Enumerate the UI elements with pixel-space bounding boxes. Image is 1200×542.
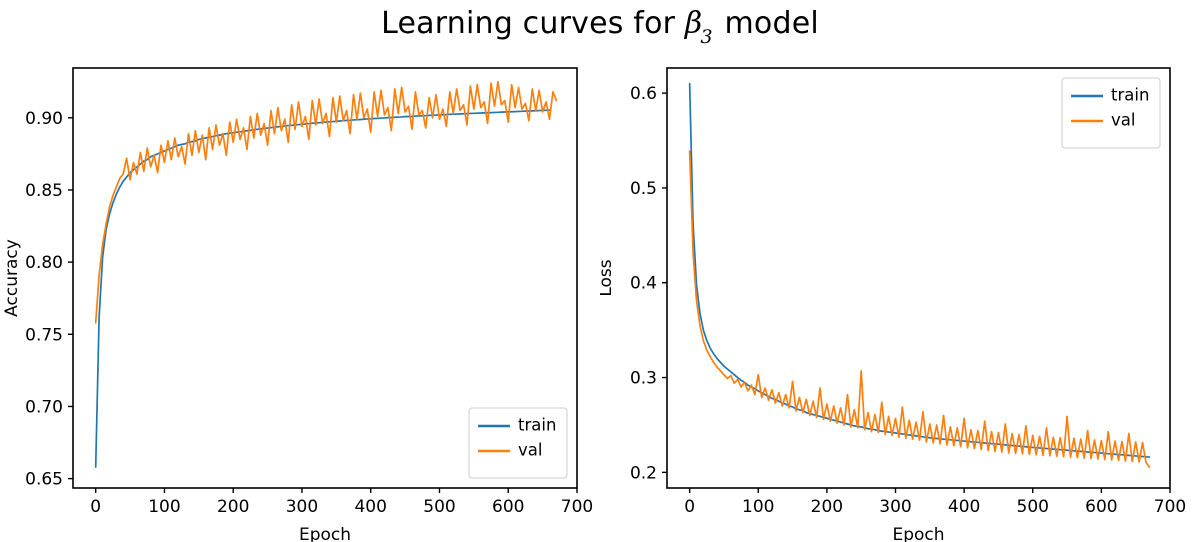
accuracy-plot-axes: 01002003004005006007000.650.700.750.800.… [0,0,600,542]
accuracy-xtick-label: 100 [148,497,180,517]
loss-xaxis-label: Epoch [892,525,944,542]
loss-ytick-label: 0.2 [630,463,657,483]
loss-xtick-label: 500 [1017,497,1049,517]
loss-xtick-label: 400 [948,497,980,517]
figure-canvas: Learning curves for β3 model 01002003004… [0,0,1200,542]
loss-plot-svg: 01002003004005006007000.20.30.40.50.6Epo… [600,0,1200,542]
accuracy-ytick-label: 0.90 [25,109,63,129]
accuracy-plot-svg: 01002003004005006007000.650.700.750.800.… [0,0,600,542]
accuracy-ytick-label: 0.65 [25,470,63,490]
accuracy-legend-label-val: val [518,441,542,460]
loss-ytick-label: 0.3 [630,369,657,389]
loss-xtick-label: 700 [1154,497,1186,517]
loss-legend: trainval [1062,78,1160,148]
loss-xtick-label: 600 [1085,497,1117,517]
accuracy-ytick-label: 0.70 [25,397,63,417]
accuracy-xtick-label: 700 [561,497,593,517]
accuracy-yaxis-label: Accuracy [2,239,22,317]
accuracy-ytick-label: 0.85 [25,181,63,201]
loss-plot-axes: 01002003004005006007000.20.30.40.50.6Epo… [600,0,1200,542]
loss-xtick-label: 200 [811,497,843,517]
accuracy-xtick-label: 300 [286,497,318,517]
accuracy-legend-label-train: train [518,416,556,435]
loss-xtick-label: 300 [879,497,911,517]
loss-ytick-label: 0.6 [630,84,657,104]
accuracy-legend: trainval [469,408,567,478]
loss-series-val [690,151,1150,467]
accuracy-xtick-label: 200 [217,497,249,517]
loss-legend-label-val: val [1111,111,1135,130]
accuracy-xtick-label: 500 [423,497,455,517]
accuracy-xtick-label: 400 [354,497,386,517]
loss-xtick-label: 0 [684,497,695,517]
accuracy-xaxis-label: Epoch [299,525,351,542]
loss-ytick-label: 0.5 [630,179,657,199]
accuracy-ytick-label: 0.80 [25,253,63,273]
accuracy-series-val [96,82,557,323]
loss-ytick-label: 0.4 [630,274,657,294]
loss-yaxis-label: Loss [600,259,616,296]
accuracy-xtick-label: 0 [90,497,101,517]
loss-legend-label-train: train [1111,86,1149,105]
accuracy-xtick-label: 600 [492,497,524,517]
loss-xtick-label: 100 [742,497,774,517]
accuracy-ytick-label: 0.75 [25,325,63,345]
